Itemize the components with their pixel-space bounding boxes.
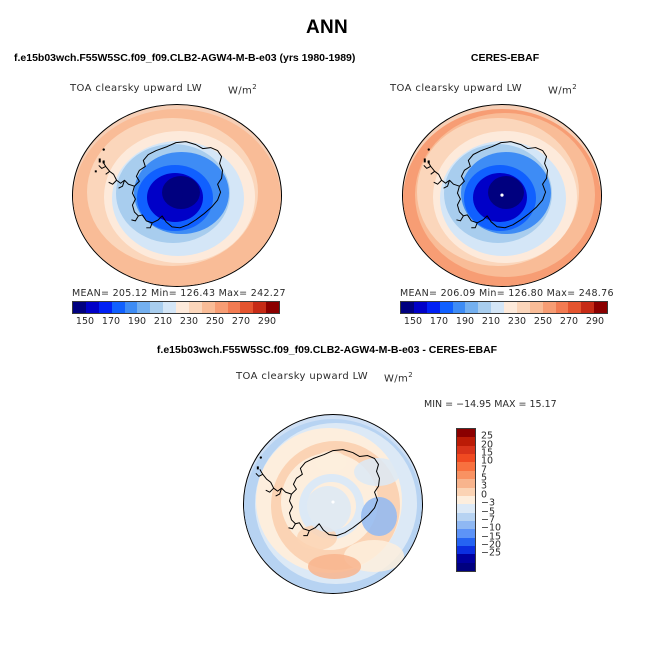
colorbar-diff-swatches <box>456 428 476 572</box>
colorbar-tick-label: 230 <box>180 316 198 327</box>
colorbar-swatch <box>189 302 202 313</box>
colorbar-swatch <box>457 504 475 512</box>
colorbar-tick-label: 250 <box>206 316 224 327</box>
colorbar-swatch <box>457 437 475 445</box>
panel-title-diff: f.e15b03wch.F55W5SC.f09_f09.CLB2-AGW4-M-… <box>0 344 654 356</box>
polar-map-model <box>72 104 282 287</box>
colorbar-swatch <box>530 302 543 313</box>
colorbar-swatch <box>568 302 581 313</box>
colorbar-swatch <box>543 302 556 313</box>
colorbar-swatch <box>112 302 125 313</box>
colorbar-swatch <box>517 302 530 313</box>
colorbar-tick-label: 250 <box>534 316 552 327</box>
colorbar-swatch <box>457 488 475 496</box>
colorbar-swatch <box>504 302 517 313</box>
coastline-right <box>403 105 601 286</box>
colorbar-swatch <box>465 302 478 313</box>
coastline-diff <box>244 415 422 593</box>
field-label-right: TOA clearsky upward LW <box>390 83 522 94</box>
panel-title-obs: CERES-EBAF <box>405 52 605 64</box>
main-title: ANN <box>0 17 654 39</box>
unit-label-diff: W/m2 <box>384 371 413 384</box>
colorbar-swatch <box>401 302 414 313</box>
colorbar-left: 150170190210230250270290 <box>72 301 280 328</box>
colorbar-swatch <box>202 302 215 313</box>
colorbar-tick-label: 270 <box>232 316 250 327</box>
colorbar-swatch <box>457 471 475 479</box>
colorbar-swatch <box>491 302 504 313</box>
colorbar-swatch <box>457 554 475 562</box>
colorbar-swatch <box>137 302 150 313</box>
colorbar-swatch <box>228 302 241 313</box>
polar-map-obs <box>402 104 602 287</box>
colorbar-swatch <box>125 302 138 313</box>
colorbar-swatch <box>457 496 475 504</box>
colorbar-tick-label: 230 <box>508 316 526 327</box>
colorbar-swatch <box>163 302 176 313</box>
colorbar-swatch <box>457 521 475 529</box>
polar-map-diff <box>243 414 423 594</box>
panel-title-model: f.e15b03wch.F55W5SC.f09_f09.CLB2-AGW4-M-… <box>14 52 355 64</box>
colorbar-swatch <box>427 302 440 313</box>
colorbar-swatch <box>581 302 594 313</box>
figure-canvas: ANN f.e15b03wch.F55W5SC.f09_f09.CLB2-AGW… <box>0 0 654 655</box>
colorbar-swatch <box>457 454 475 462</box>
colorbar-tick-label: 150 <box>404 316 422 327</box>
colorbar-swatch <box>457 446 475 454</box>
colorbar-swatch <box>266 302 279 313</box>
colorbar-right-ticks: 150170190210230250270290 <box>400 314 608 328</box>
colorbar-swatch <box>453 302 466 313</box>
colorbar-swatch <box>457 429 475 437</box>
colorbar-tick-label: 290 <box>258 316 276 327</box>
colorbar-swatch <box>556 302 569 313</box>
colorbar-tick-label: 170 <box>430 316 448 327</box>
colorbar-tick-label: −25 <box>481 548 501 559</box>
colorbar-right-swatches <box>400 301 608 314</box>
colorbar-swatch <box>414 302 427 313</box>
colorbar-swatch <box>478 302 491 313</box>
field-label-diff: TOA clearsky upward LW <box>236 371 368 382</box>
colorbar-swatch <box>86 302 99 313</box>
colorbar-swatch <box>99 302 112 313</box>
colorbar-swatch <box>457 462 475 470</box>
colorbar-swatch <box>457 529 475 537</box>
colorbar-tick-label: 270 <box>560 316 578 327</box>
colorbar-left-swatches <box>72 301 280 314</box>
colorbar-swatch <box>594 302 607 313</box>
unit-label-left: W/m2 <box>228 83 257 96</box>
colorbar-swatch <box>457 479 475 487</box>
colorbar-tick-label: 170 <box>102 316 120 327</box>
colorbar-tick-label: 210 <box>154 316 172 327</box>
stats-left: MEAN= 205.12 Min= 126.43 Max= 242.27 <box>72 288 286 299</box>
colorbar-swatch <box>150 302 163 313</box>
field-label-left: TOA clearsky upward LW <box>70 83 202 94</box>
colorbar-swatch <box>240 302 253 313</box>
colorbar-swatch <box>457 538 475 546</box>
colorbar-swatch <box>176 302 189 313</box>
coastline-left <box>73 105 281 286</box>
colorbar-swatch <box>215 302 228 313</box>
colorbar-tick-label: 190 <box>456 316 474 327</box>
colorbar-swatch <box>73 302 86 313</box>
colorbar-tick-label: 150 <box>76 316 94 327</box>
colorbar-swatch <box>457 513 475 521</box>
colorbar-right: 150170190210230250270290 <box>400 301 608 328</box>
unit-label-right: W/m2 <box>548 83 577 96</box>
stats-right: MEAN= 206.09 Min= 126.80 Max= 248.76 <box>400 288 614 299</box>
colorbar-tick-label: 290 <box>586 316 604 327</box>
colorbar-swatch <box>457 546 475 554</box>
minmax-diff: MIN = −14.95 MAX = 15.17 <box>424 399 557 410</box>
colorbar-tick-label: 190 <box>128 316 146 327</box>
colorbar-swatch <box>253 302 266 313</box>
colorbar-swatch <box>440 302 453 313</box>
colorbar-tick-label: 210 <box>482 316 500 327</box>
colorbar-swatch <box>457 563 475 571</box>
colorbar-left-ticks: 150170190210230250270290 <box>72 314 280 328</box>
